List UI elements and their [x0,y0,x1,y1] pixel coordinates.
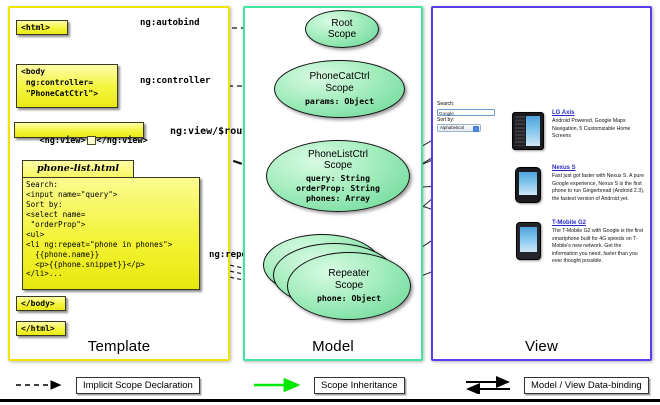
html-close-tag: </html> [16,321,66,336]
legend-item-scope-inheritance: Scope Inheritance [252,376,405,394]
view-panel-title: View [433,338,650,355]
t-mobile-g2-phone-image [516,222,541,260]
phone-keyboard [515,116,525,146]
scope-phonelistctrl: PhoneListCtrl Scope query: String orderP… [266,140,410,212]
phone-listing-snippet: Android Powered, Google Maps Navigation,… [552,118,648,141]
search-input[interactable]: Google [437,109,495,116]
repeater-scope-stack: Repeater Scope phone: Object [263,232,413,322]
scope-phonelistctrl-title-1: PhoneListCtrl [308,149,368,160]
chevron-updown-icon: ↕ [473,126,479,132]
dashed-arrow-icon [14,376,70,394]
legend-label: Implicit Scope Declaration [76,377,200,394]
scope-phonelistctrl-props: query: String orderProp: String phones: … [296,174,380,204]
body-open-tag: <body ng:controller= "PhoneCatCtrl"> [16,64,118,108]
template-panel-title: Template [10,338,228,355]
diagram-root: Template <html> <body ng:controller= "Ph… [0,0,660,405]
phone-listing-link[interactable]: Nexus S [552,165,648,171]
repeater-scope-title-2: Scope [328,280,369,291]
sort-label: Sort by: [437,117,501,125]
phone-listing-link[interactable]: T-Mobile G2 [552,220,648,226]
html-open-tag: <html> [16,20,68,35]
phone-list-filename: phone-list.html [22,160,134,178]
sort-select-value: Alphabetical [440,125,464,132]
ng-view-open: <ng:view> [39,136,85,146]
legend-item-data-binding: Model / View Data-binding [462,376,649,394]
phone-listing: LG Axis Android Powered, Google Maps Nav… [552,110,648,141]
sort-select[interactable]: Alphabetical ↕ [437,124,481,132]
nexus-s-phone-image [515,167,541,203]
arrow-label-route: ng:view/$route [170,126,254,137]
bottom-rule [0,399,660,402]
repeater-scope-front: Repeater Scope phone: Object [287,252,411,320]
repeater-scope-props: phone: Object [317,294,381,304]
ng-view-close: </ng:view> [97,136,148,146]
search-label: Search: [437,101,501,109]
scope-root: Root Scope [305,10,379,48]
repeater-scope-title-1: Repeater [328,268,369,279]
phone-screen [520,227,537,252]
phone-listing: Nexus S Fast just got faster with Nexus … [552,165,648,203]
ng-view-tag: <ng:view></ng:view> [14,122,144,138]
phone-list-note: phone-list.html Search: <input name="que… [22,160,200,290]
scope-root-title-2: Scope [328,29,356,40]
scope-phonelistctrl-title-2: Scope [308,160,368,171]
phone-screen [519,172,537,195]
phone-listing-link[interactable]: LG Axis [552,110,648,116]
green-arrow-icon [252,376,308,394]
phone-listing: T-Mobile G2 The T-Mobile G2 with Google … [552,220,648,266]
scope-phonecatctrl-title-2: Scope [309,83,369,94]
phone-listing-snippet: The T-Mobile G2 with Google is the first… [552,228,648,266]
lg-axis-phone-image [512,112,544,150]
legend-item-implicit-scope: Implicit Scope Declaration [14,376,200,394]
phone-list-code: Search: <input name="query"> Sort by: <s… [22,177,200,290]
model-panel-title: Model [245,338,421,355]
legend-label: Model / View Data-binding [524,377,649,394]
arrow-label-autobind: ng:autobind [140,18,200,28]
body-close-tag: </body> [16,296,66,311]
scope-phonecatctrl: PhoneCatCtrl Scope params: Object [274,60,405,118]
scope-phonecatctrl-title-1: PhoneCatCtrl [309,71,369,82]
legend-label: Scope Inheritance [314,377,405,394]
phone-listing-snippet: Fast just got faster with Nexus S. A pur… [552,173,648,203]
scope-root-title-1: Root [328,18,356,29]
double-arrow-icon [462,376,518,394]
phone-screen [526,116,540,146]
view-search-form: Search: Google Sort by: Alphabetical ↕ [437,101,501,132]
scope-phonecatctrl-props: params: Object [305,97,374,107]
ng-view-placeholder-square [87,136,96,145]
arrow-label-controller: ng:controller [140,76,210,86]
